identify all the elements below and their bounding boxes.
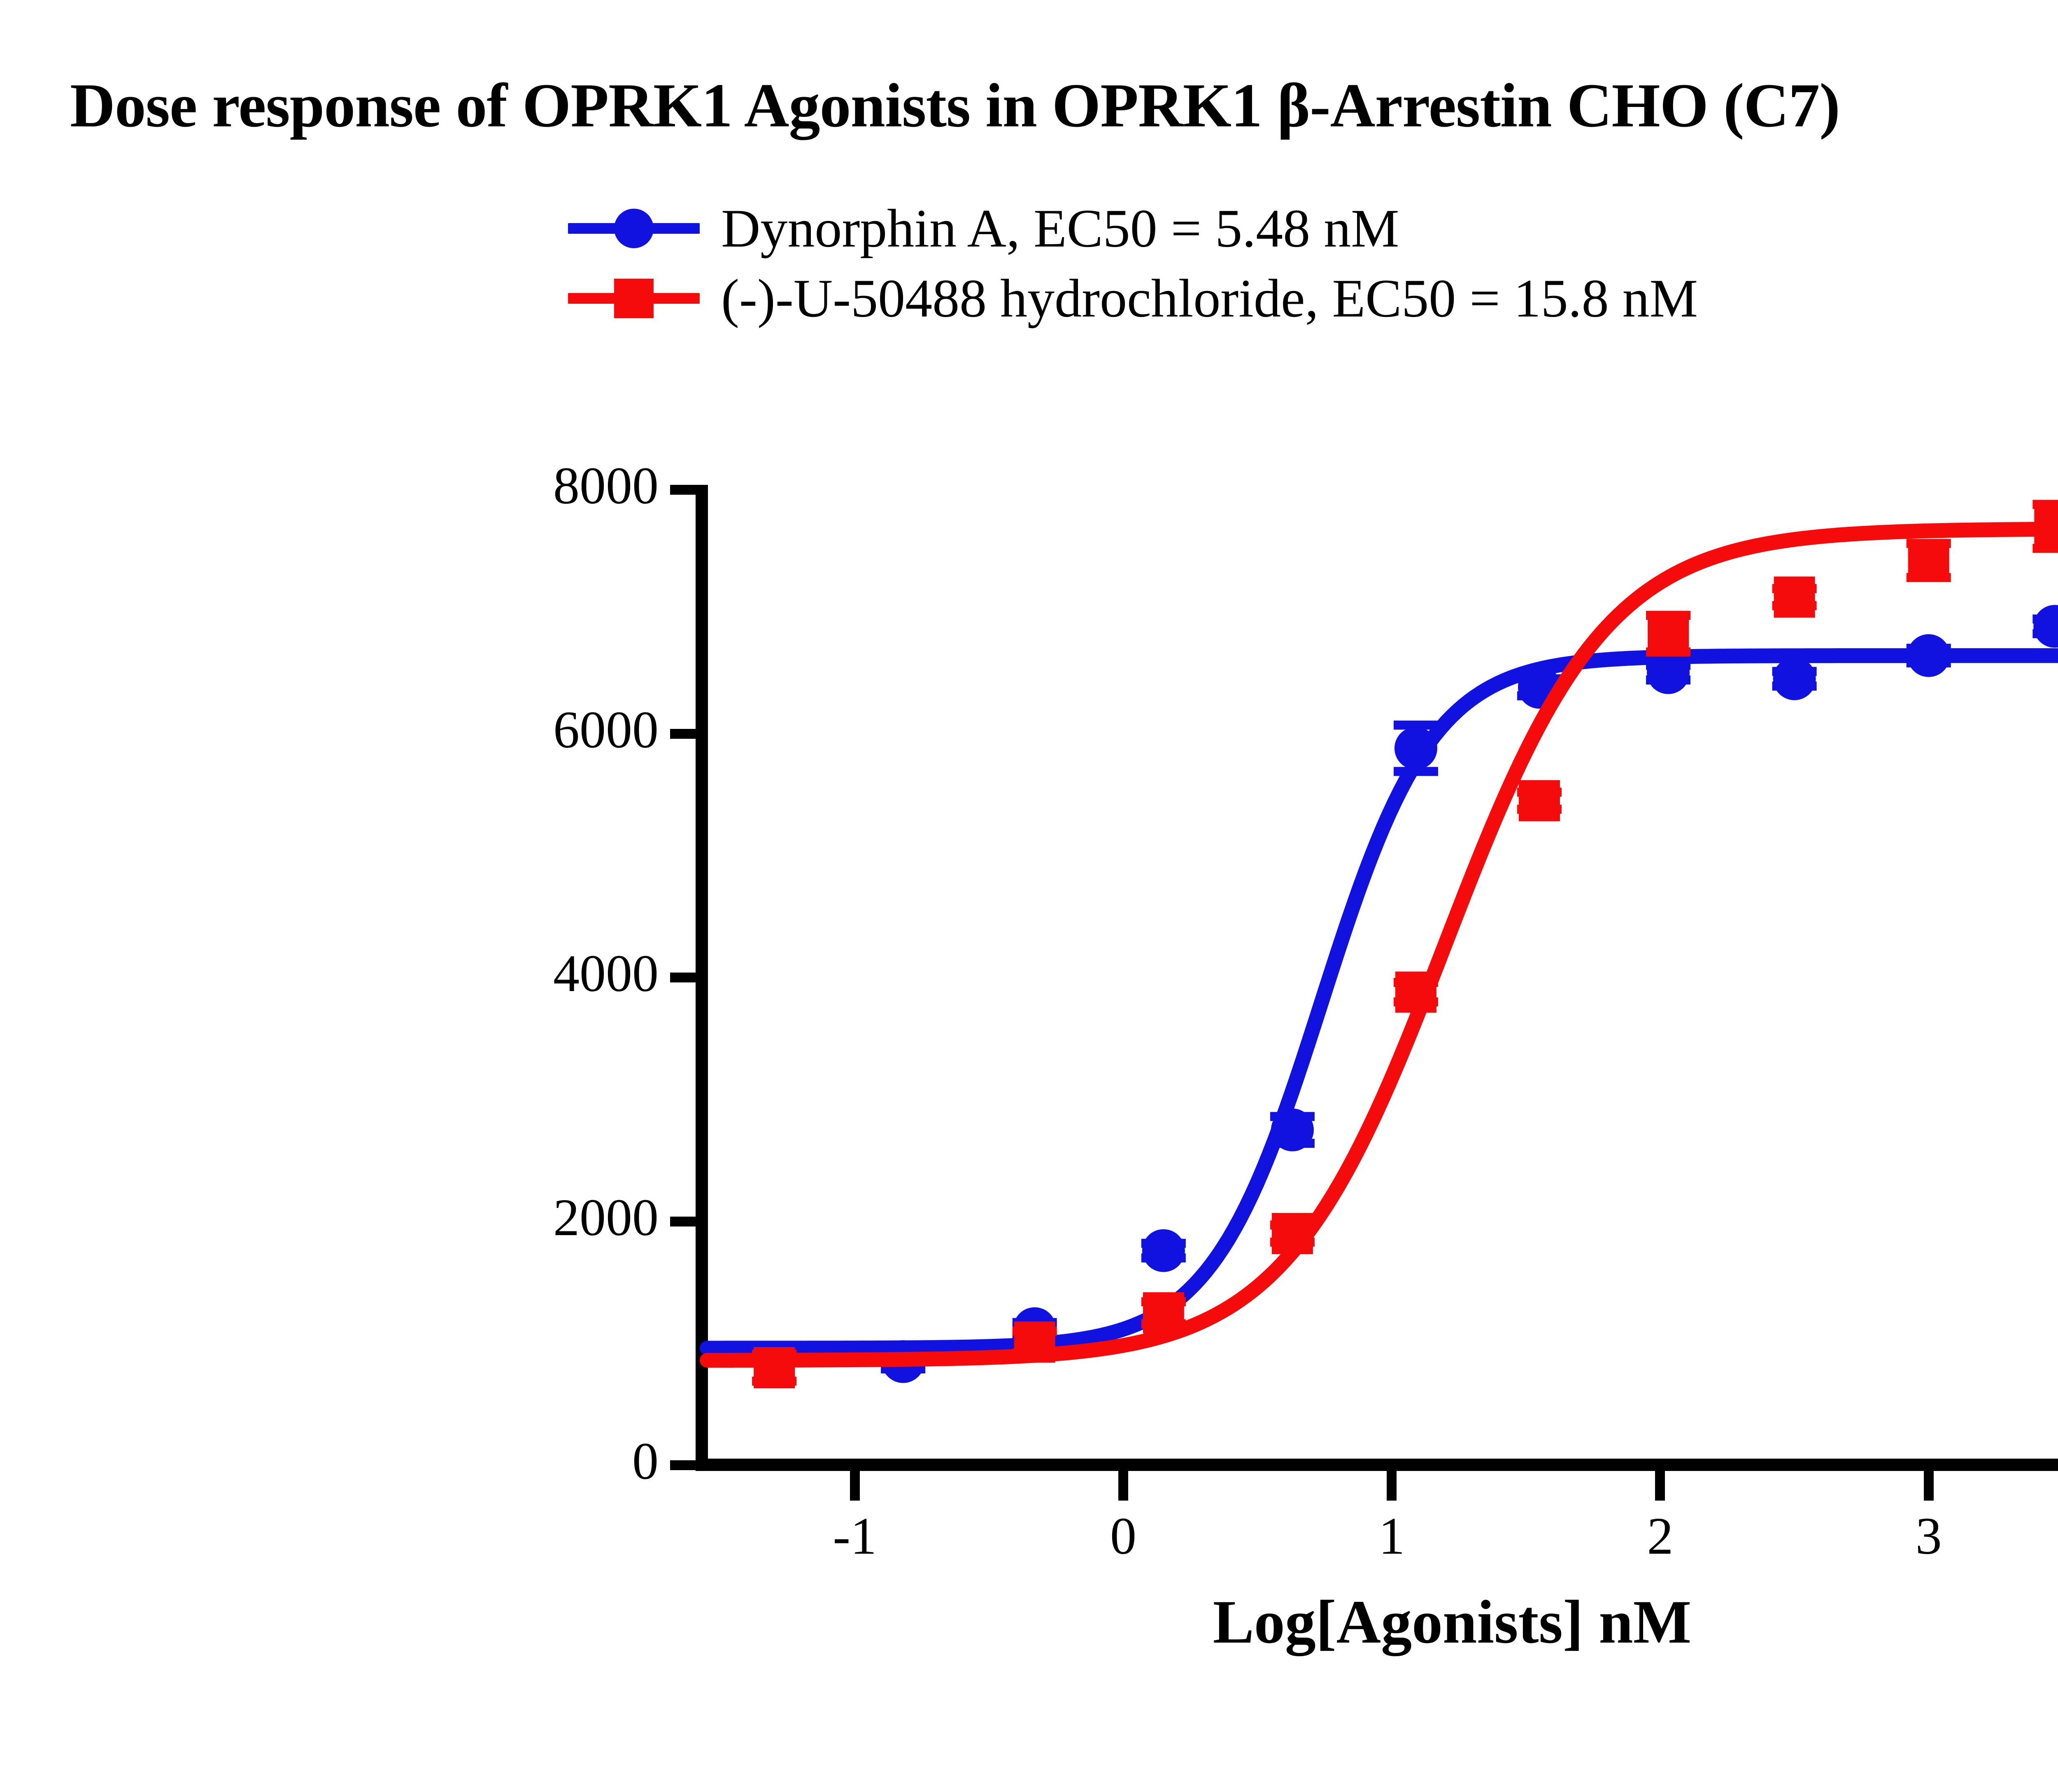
data-point — [1142, 1229, 1185, 1272]
data-point — [754, 1347, 795, 1388]
data-point — [1143, 1292, 1184, 1334]
y-axis-tick — [670, 1217, 696, 1226]
data-point — [1907, 634, 1950, 677]
y-axis-tick — [670, 1460, 696, 1470]
plot-svg — [707, 490, 2058, 1465]
data-point — [1774, 577, 1815, 618]
data-point — [1395, 727, 1437, 770]
y-axis-tick-label: 0 — [428, 1435, 659, 1487]
legend-item-dynorphin-a[interactable]: Dynorphin A, EC50 = 5.48 nM — [568, 193, 1698, 263]
legend-label-dynorphin-a: Dynorphin A, EC50 = 5.48 nM — [700, 201, 1399, 256]
series-dynorphin-a — [707, 605, 2058, 1383]
legend-swatch-u50488 — [568, 278, 700, 319]
y-axis-tick-label: 2000 — [428, 1191, 659, 1244]
data-point — [1519, 780, 1560, 821]
plot-area — [707, 490, 2058, 1465]
y-axis-tick — [670, 485, 696, 495]
data-point — [1773, 657, 1816, 700]
chart-legend: Dynorphin A, EC50 = 5.48 nM (-)-U-50488 … — [568, 193, 1698, 333]
x-axis-tick-label: 1 — [1346, 1510, 1437, 1562]
data-point — [2033, 605, 2058, 648]
x-axis-tick — [1924, 1471, 1934, 1501]
fit-curve — [707, 656, 2058, 1348]
x-axis-tick-label: 0 — [1078, 1510, 1169, 1562]
series-u50488 — [707, 505, 2058, 1388]
data-point — [1647, 651, 1690, 694]
data-point — [1648, 613, 1689, 654]
y-axis-tick — [670, 729, 696, 739]
y-axis-line — [696, 485, 708, 1471]
data-point — [1395, 972, 1436, 1013]
legend-label-u50488: (-)-U-50488 hydrochloride, EC50 = 15.8 n… — [700, 271, 1698, 326]
x-axis-tick — [1118, 1471, 1128, 1501]
x-axis-tick-label: 2 — [1615, 1510, 1705, 1562]
y-axis-tick-label: 8000 — [428, 459, 659, 512]
x-axis-tick-label: 3 — [1883, 1510, 1974, 1562]
legend-swatch-dynorphin-a — [568, 208, 700, 249]
y-axis-title: RLU — [0, 742, 7, 873]
legend-item-u50488[interactable]: (-)-U-50488 hydrochloride, EC50 = 15.8 n… — [568, 263, 1698, 333]
x-axis-title: Log[Agonists] nM — [707, 1587, 2058, 1657]
x-axis-tick — [850, 1471, 860, 1501]
y-axis-tick — [670, 973, 696, 982]
y-axis-tick-label: 6000 — [428, 703, 659, 756]
data-point — [2034, 506, 2058, 547]
x-axis-tick — [1655, 1471, 1665, 1501]
data-point — [1272, 1213, 1313, 1254]
data-point — [1014, 1322, 1055, 1363]
y-axis-tick-label: 4000 — [428, 947, 659, 1000]
chart-title: Dose response of OPRK1 Agonists in OPRK1… — [70, 74, 2058, 137]
x-axis-tick — [1387, 1471, 1397, 1501]
data-point — [1271, 1108, 1314, 1151]
data-point — [1908, 540, 1949, 581]
x-axis-tick-label: -1 — [810, 1510, 900, 1562]
chart-root: Dose response of OPRK1 Agonists in OPRK1… — [0, 0, 2058, 1792]
